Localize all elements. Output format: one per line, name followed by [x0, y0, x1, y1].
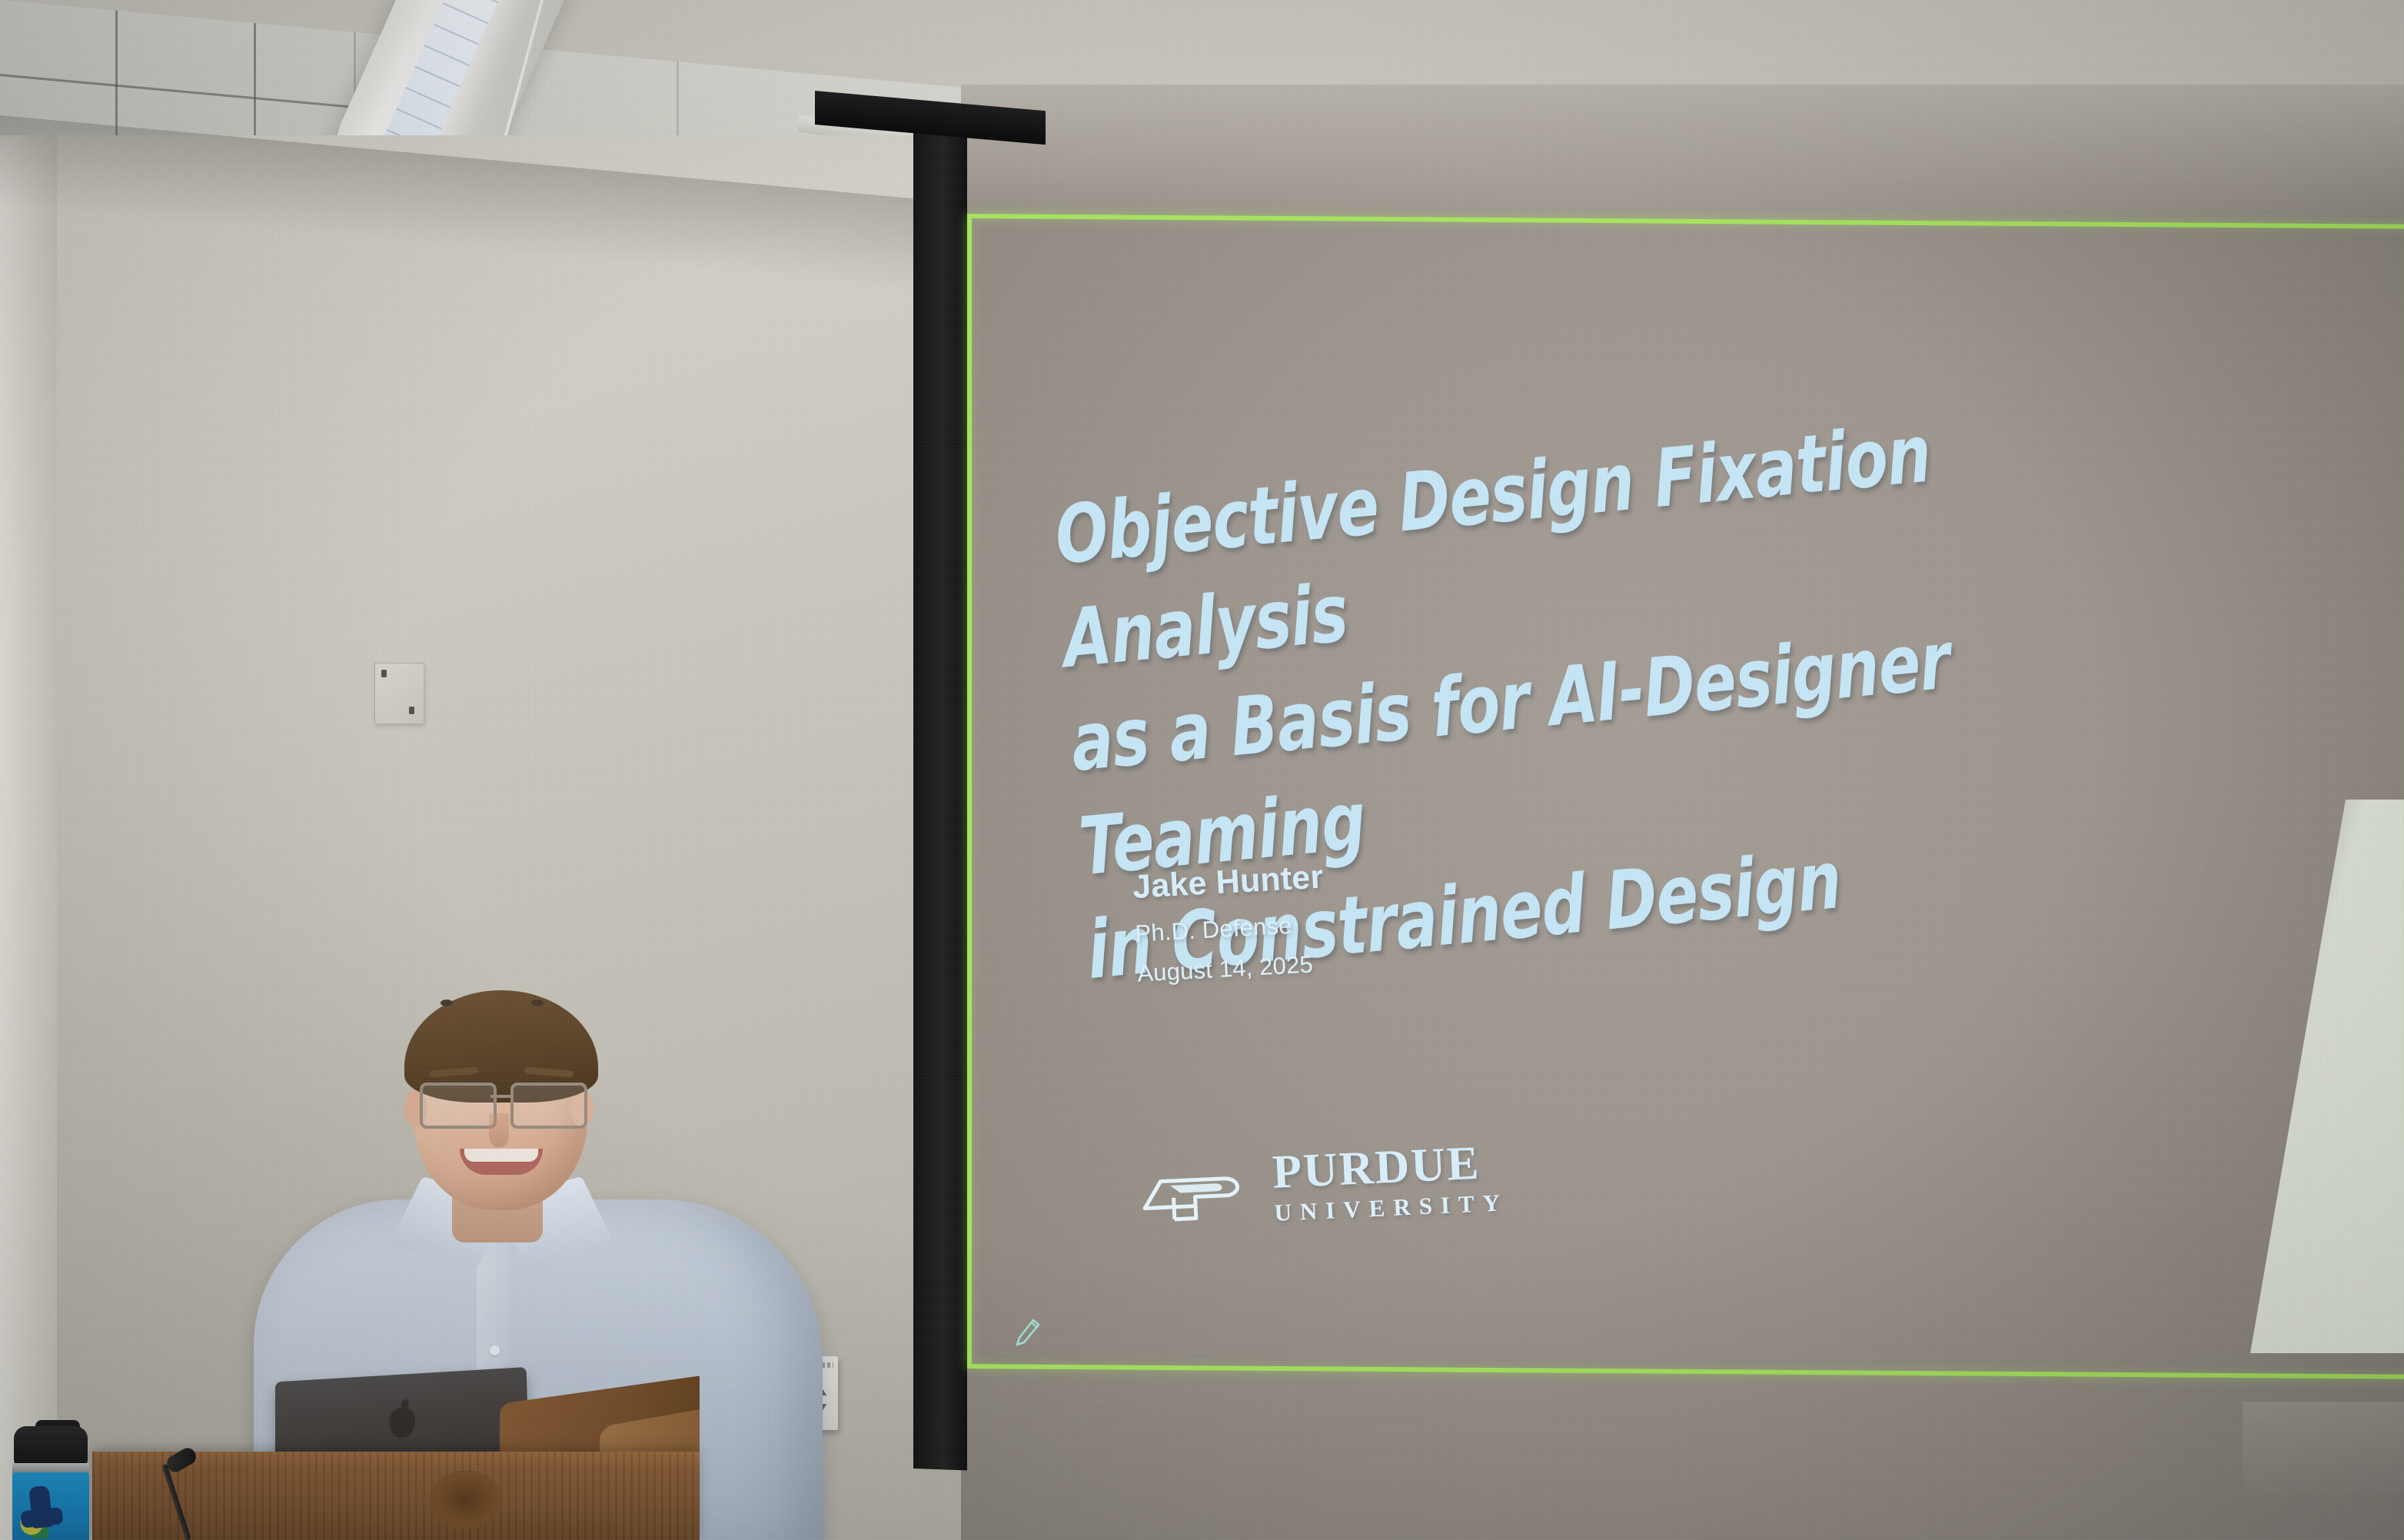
bottle-cap	[14, 1426, 88, 1466]
screen-lower-edge-shadow	[2243, 1402, 2404, 1494]
apple-logo-icon	[389, 1407, 415, 1439]
lecture-room-photo: Objective Design Fixation Analysis as a …	[0, 0, 2404, 1540]
pen-icon[interactable]	[1013, 1316, 1044, 1349]
bottle-body	[12, 1472, 89, 1540]
eye-left	[441, 1000, 453, 1006]
projection-screen-frame	[913, 108, 967, 1470]
wood-knot	[429, 1470, 503, 1530]
slide-green-border	[967, 214, 2404, 1379]
presenter-smile	[460, 1149, 543, 1175]
presenter-nose	[489, 1113, 509, 1147]
blank-wall-plate	[374, 663, 424, 724]
water-bottle	[9, 1426, 95, 1540]
eye-right	[531, 1000, 544, 1006]
bottle-sticker-hand-graphic	[28, 1485, 53, 1528]
